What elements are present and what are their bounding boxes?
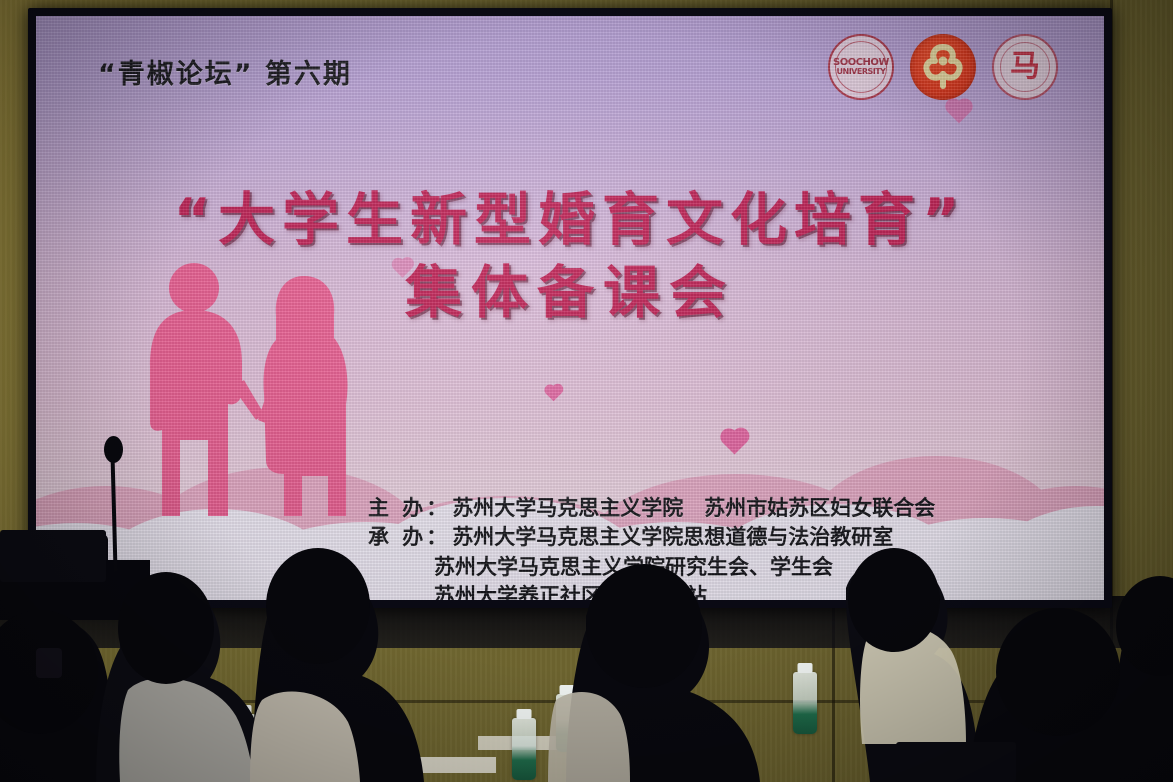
organizer-value: 苏州大学马克思主义学院思想道德与法治教研室 (452, 525, 893, 549)
title-line-2: 集体备课会 (36, 257, 1104, 330)
title-line-1: “大学生新型婚育文化培育” (36, 184, 1104, 257)
heart-decoration-icon (948, 101, 971, 124)
wall-seam-horizontal (0, 700, 1173, 703)
womens-federation-emblem-icon (910, 34, 976, 100)
host-value: 苏州大学马克思主义学院 苏州市姑苏区妇女联合会 (452, 496, 935, 520)
organizer-row: 承 办：苏州大学马克思主义学院思想道德与法治教研室 (368, 523, 935, 552)
host-label: 主 办： (368, 496, 450, 520)
slide-title: “大学生新型婚育文化培育” 集体备课会 (36, 184, 1104, 330)
presentation-screen: “青椒论坛” 第六期 SOOCHOW UNIVERSITY (36, 16, 1104, 600)
marxism-school-seal-icon: 马 (992, 34, 1058, 100)
slide-kicker: “青椒论坛” 第六期 (98, 52, 352, 91)
led-screen-bezel: “青椒论坛” 第六期 SOOCHOW UNIVERSITY (28, 8, 1112, 608)
slide-content: “青椒论坛” 第六期 SOOCHOW UNIVERSITY (36, 16, 1104, 600)
logo-row: SOOCHOW UNIVERSITY (828, 34, 1058, 100)
conference-room-photo: “青椒论坛” 第六期 SOOCHOW UNIVERSITY (0, 0, 1173, 782)
host-row: 主 办：苏州大学马克思主义学院 苏州市姑苏区妇女联合会 (368, 494, 935, 523)
organizer-label: 承 办： (368, 525, 450, 549)
seal-character: 马 (994, 36, 1056, 98)
soochow-university-seal-icon: SOOCHOW UNIVERSITY (828, 34, 894, 100)
organizer-block: 主 办：苏州大学马克思主义学院 苏州市姑苏区妇女联合会 承 办：苏州大学马克思主… (368, 494, 935, 600)
organizer-value-2: 苏州大学马克思主义学院研究生会、学生会 (368, 553, 935, 582)
organizer-value-3: 苏州大学养正社区党建领航站 (368, 582, 935, 600)
seal-text-line2: UNIVERSITY (837, 68, 886, 76)
seal-text-line1: SOOCHOW (833, 58, 889, 68)
